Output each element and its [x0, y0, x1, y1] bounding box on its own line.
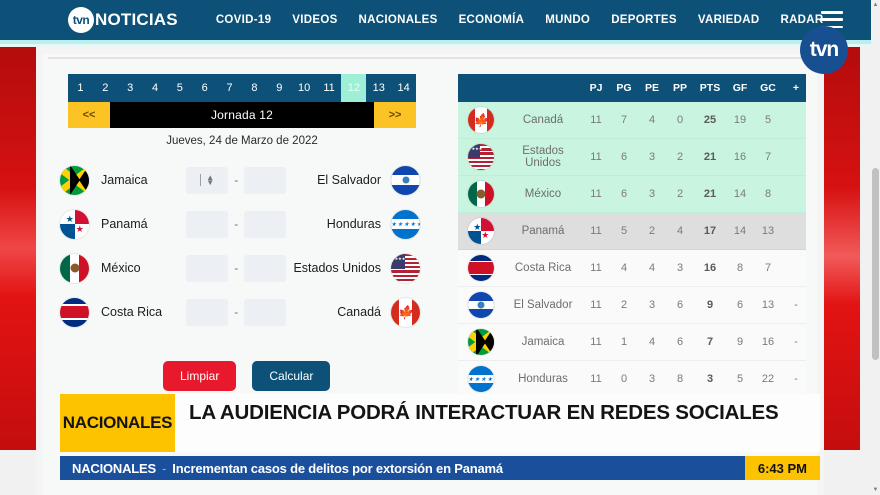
match-row: Costa Rica-Canadá🍁 [60, 290, 420, 334]
match-row: Jamaica▲▼-El Salvador [60, 158, 420, 202]
jornada-tab-10[interactable]: 10 [292, 74, 317, 102]
match-away-team-name: Canadá [287, 305, 391, 319]
standings-cell-pj: 11 [582, 114, 610, 126]
clear-button[interactable]: Limpiar [163, 361, 236, 391]
standings-cell-pj: 11 [582, 336, 610, 348]
standings-row[interactable]: México1163221148 [458, 176, 806, 213]
breaking-news-card: NACIONALES LA AUDIENCIA PODRÁ INTERACTUA… [60, 394, 820, 452]
ticker-category: NACIONALES [60, 461, 156, 476]
standings-col-pts-header: PTS [694, 82, 726, 94]
standings-cell-gf: 8 [726, 262, 754, 274]
tvn-logo-text: NOTICIAS [95, 10, 178, 30]
jornada-tab-3[interactable]: 3 [118, 74, 143, 102]
jornada-prev-button[interactable]: << [68, 102, 110, 128]
standings-cell-gf: 5 [726, 373, 754, 385]
standings-flag-cell: ★★ [458, 218, 504, 244]
standings-row[interactable]: ★★Panamá11524171413 [458, 213, 806, 250]
flag-can-icon: 🍁 [468, 107, 494, 133]
standings-cell-pg: 6 [610, 151, 638, 163]
standings-cell-pp: 2 [666, 188, 694, 200]
standings-cell-gf: 14 [726, 188, 754, 200]
jornada-navigation-bar: << Jornada 12 >> [68, 102, 416, 128]
standings-cell-gf: 16 [726, 151, 754, 163]
home-score-input[interactable] [186, 211, 228, 238]
standings-cell-pg: 2 [610, 299, 638, 311]
background-image-left-strip [0, 47, 36, 450]
action-button-group: Limpiar Calcular [163, 361, 330, 391]
flag-mex-icon [468, 181, 494, 207]
news-category-badge: NACIONALES [60, 394, 175, 452]
match-away-team-name: El Salvador [287, 173, 391, 187]
scroll-down-arrow-icon[interactable]: ▼ [872, 487, 879, 493]
score-separator: - [232, 261, 240, 275]
flag-jam-icon [468, 329, 494, 355]
standings-cell-gc: 13 [754, 225, 782, 237]
flag-pan-icon: ★★ [60, 210, 89, 239]
standings-row[interactable]: 🍁Canadá1174025195 [458, 102, 806, 139]
standings-cell-pj: 11 [582, 373, 610, 385]
score-separator: - [232, 305, 240, 319]
site-header: tvn NOTICIAS COVID-19 VIDEOS NACIONALES … [0, 0, 880, 40]
standings-cell-pp: 6 [666, 336, 694, 348]
number-spinner-icon[interactable]: ▲▼ [206, 175, 214, 185]
standings-cell-pts: 7 [694, 336, 726, 348]
jornada-tab-strip: 1234567891011121314 [68, 74, 416, 102]
jornada-tab-11[interactable]: 11 [317, 74, 342, 102]
standings-cell-pg: 0 [610, 373, 638, 385]
standings-cell-gc: 16 [754, 336, 782, 348]
flag-slv-icon [468, 292, 494, 318]
standings-cell-pts: 3 [694, 373, 726, 385]
match-home-team-name: Costa Rica [89, 305, 186, 319]
jornada-tab-13[interactable]: 13 [366, 74, 391, 102]
jornada-title: Jornada 12 [110, 102, 374, 128]
card-top-divider [48, 57, 812, 59]
standings-cell-pg: 6 [610, 188, 638, 200]
jornada-tab-5[interactable]: 5 [167, 74, 192, 102]
standings-cell-pts: 17 [694, 225, 726, 237]
flag-crc-icon [60, 298, 89, 327]
standings-cell-gf: 19 [726, 114, 754, 126]
standings-flag-cell: 🍁 [458, 107, 504, 133]
flag-usa-icon [468, 144, 494, 170]
standings-cell-pg: 7 [610, 114, 638, 126]
jornada-tab-12[interactable]: 12 [341, 74, 366, 102]
standings-cell-pts: 9 [694, 299, 726, 311]
flag-mex-icon [60, 254, 89, 283]
flag-usa-icon [391, 254, 420, 283]
standings-cell-pp: 0 [666, 114, 694, 126]
standings-cell-gc: 13 [754, 299, 782, 311]
standings-cell-pts: 21 [694, 151, 726, 163]
standings-team-name: Estados Unidos [504, 145, 582, 169]
standings-cell-pe: 3 [638, 151, 666, 163]
standings-flag-cell [458, 255, 504, 281]
flag-can-icon: 🍁 [391, 298, 420, 327]
standings-body: 🍁Canadá1174025195Estados Unidos116322116… [458, 102, 806, 396]
standings-flag-cell [458, 181, 504, 207]
standings-cell-pe: 4 [638, 114, 666, 126]
away-score-input[interactable] [244, 299, 286, 326]
standings-cell-pts: 16 [694, 262, 726, 274]
standings-col-pe-header: PE [638, 82, 666, 94]
away-score-input[interactable] [244, 167, 286, 194]
standings-col-pj-header: PJ [582, 82, 610, 94]
nav-link-nacionales[interactable]: NACIONALES [359, 14, 438, 26]
tvn-noticias-logo[interactable]: tvn NOTICIAS [68, 7, 178, 33]
away-score-input[interactable] [244, 211, 286, 238]
standings-cell-pj: 11 [582, 151, 610, 163]
standings-col-pg-header: PG [610, 82, 638, 94]
main-navigation: COVID-19 VIDEOS NACIONALES ECONOMÍA MUND… [216, 14, 824, 26]
standings-cell-gc: 8 [754, 188, 782, 200]
scroll-up-arrow-icon[interactable]: ▲ [872, 2, 879, 8]
news-ticker: NACIONALES - Incrementan casos de delito… [60, 456, 820, 480]
standings-cell-gc: 22 [754, 373, 782, 385]
flag-pan-icon: ★★ [468, 218, 494, 244]
standings-cell-pp: 8 [666, 373, 694, 385]
standings-table[interactable]: PJPGPEPPPTSGFGC+ 🍁Canadá1174025195Estado… [458, 74, 806, 396]
standings-cell-pj: 11 [582, 225, 610, 237]
home-score-input[interactable] [186, 255, 228, 282]
nav-link-mundo[interactable]: MUNDO [545, 14, 590, 26]
standings-cell-pe: 2 [638, 225, 666, 237]
score-inputs: - [186, 299, 287, 326]
standings-cell-pe: 3 [638, 373, 666, 385]
standings-cell-pts: 21 [694, 188, 726, 200]
jornada-tab-8[interactable]: 8 [242, 74, 267, 102]
standings-cell-gc: 5 [754, 114, 782, 126]
standings-cell-pe: 3 [638, 299, 666, 311]
standings-team-name: El Salvador [504, 299, 582, 311]
standings-cell-gf: 6 [726, 299, 754, 311]
jornada-tab-7[interactable]: 7 [217, 74, 242, 102]
standings-team-name: México [504, 188, 582, 200]
standings-team-name: Honduras [504, 373, 582, 385]
match-row: México-Estados Unidos [60, 246, 420, 290]
standings-cell-pg: 5 [610, 225, 638, 237]
standings-cell-gf: 9 [726, 336, 754, 348]
standings-cell-pe: 4 [638, 262, 666, 274]
standings-row[interactable]: El Salvador112369613- [458, 287, 806, 324]
scrollbar-thumb[interactable] [872, 168, 879, 360]
nav-link-economia[interactable]: ECONOMÍA [459, 14, 525, 26]
ticker-separator: - [156, 461, 172, 476]
standings-flag-cell [458, 144, 504, 170]
calculate-button[interactable]: Calcular [252, 361, 330, 391]
standings-row[interactable]: Estados Unidos1163221167 [458, 139, 806, 176]
score-inputs: - [186, 255, 287, 282]
standings-cell-pj: 11 [582, 188, 610, 200]
jornada-tab-6[interactable]: 6 [192, 74, 217, 102]
ticker-time: 6:43 PM [745, 456, 820, 480]
flag-slv-icon [391, 166, 420, 195]
match-away-team-name: Estados Unidos [287, 261, 391, 275]
standings-cell-pp: 4 [666, 225, 694, 237]
match-home-team-name: México [89, 261, 186, 275]
jornada-tab-4[interactable]: 4 [143, 74, 168, 102]
home-score-input[interactable] [186, 299, 228, 326]
nav-link-deportes[interactable]: DEPORTES [611, 14, 677, 26]
standings-row[interactable]: Jamaica111467916- [458, 324, 806, 361]
standings-col-gc-header: GC [754, 82, 782, 94]
tvn-logo-mark: tvn [68, 7, 94, 33]
standings-team-name: Canadá [504, 114, 582, 126]
standings-cell-pj: 11 [582, 299, 610, 311]
ticker-text: Incrementan casos de delitos por extorsi… [172, 461, 745, 476]
standings-cell-dif: - [782, 299, 806, 311]
standings-col-pp-header: PP [666, 82, 694, 94]
standings-cell-pe: 3 [638, 188, 666, 200]
nav-link-variedad[interactable]: VARIEDAD [698, 14, 760, 26]
flag-jam-icon [60, 166, 89, 195]
match-date-label: Jueves, 24 de Marzo de 2022 [68, 135, 416, 147]
page-scrollbar[interactable]: ▲ ▼ [871, 0, 880, 495]
flag-hnd-icon: ★★★★★ [468, 366, 494, 392]
standings-cell-pg: 1 [610, 336, 638, 348]
standings-row[interactable]: ★★★★★Honduras110383522- [458, 361, 806, 396]
browser-viewport: tvn NOTICIAS COVID-19 VIDEOS NACIONALES … [0, 0, 880, 495]
nav-link-videos[interactable]: VIDEOS [292, 14, 337, 26]
nav-link-covid19[interactable]: COVID-19 [216, 14, 271, 26]
standings-col-gf-header: GF [726, 82, 754, 94]
standings-col--header: + [782, 82, 806, 94]
standings-cell-pts: 25 [694, 114, 726, 126]
jornada-tab-14[interactable]: 14 [391, 74, 416, 102]
standings-flag-cell: ★★★★★ [458, 366, 504, 392]
standings-team-name: Jamaica [504, 336, 582, 348]
standings-flag-cell [458, 292, 504, 318]
flag-crc-icon [468, 255, 494, 281]
score-separator: - [232, 173, 240, 187]
home-score-input[interactable]: ▲▼ [186, 167, 228, 194]
standings-cell-pp: 3 [666, 262, 694, 274]
standings-cell-pp: 2 [666, 151, 694, 163]
match-row: ★★Panamá-Honduras★★★★★ [60, 202, 420, 246]
match-home-team-name: Panamá [89, 217, 186, 231]
background-image-right-strip [824, 47, 860, 450]
away-score-input[interactable] [244, 255, 286, 282]
standings-header-row: PJPGPEPPPTSGFGC+ [458, 74, 806, 102]
standings-cell-dif: - [782, 336, 806, 348]
jornada-tab-2[interactable]: 2 [93, 74, 118, 102]
standings-row[interactable]: Costa Rica114431687 [458, 250, 806, 287]
score-separator: - [232, 217, 240, 231]
standings-flag-cell [458, 329, 504, 355]
tvn-circular-badge[interactable]: tvn [800, 26, 848, 74]
match-home-team-name: Jamaica [89, 173, 186, 187]
jornada-tab-1[interactable]: 1 [68, 74, 93, 102]
standings-cell-pe: 4 [638, 336, 666, 348]
standings-team-name: Costa Rica [504, 262, 582, 274]
news-headline: LA AUDIENCIA PODRÁ INTERACTUAR EN REDES … [175, 394, 820, 452]
standings-cell-pp: 6 [666, 299, 694, 311]
score-inputs: ▲▼- [186, 167, 287, 194]
standings-cell-gc: 7 [754, 151, 782, 163]
standings-cell-pj: 11 [582, 262, 610, 274]
standings-cell-pg: 4 [610, 262, 638, 274]
nav-link-radar[interactable]: RADAR [780, 14, 823, 26]
jornada-tab-9[interactable]: 9 [267, 74, 292, 102]
flag-hnd-icon: ★★★★★ [391, 210, 420, 239]
standings-cell-dif: - [782, 373, 806, 385]
standings-cell-gf: 14 [726, 225, 754, 237]
match-list: Jamaica▲▼-El Salvador★★Panamá-Honduras★★… [60, 158, 420, 334]
standings-team-name: Panamá [504, 225, 582, 237]
score-inputs: - [186, 211, 287, 238]
match-away-team-name: Honduras [287, 217, 391, 231]
standings-cell-gc: 7 [754, 262, 782, 274]
jornada-next-button[interactable]: >> [374, 102, 416, 128]
